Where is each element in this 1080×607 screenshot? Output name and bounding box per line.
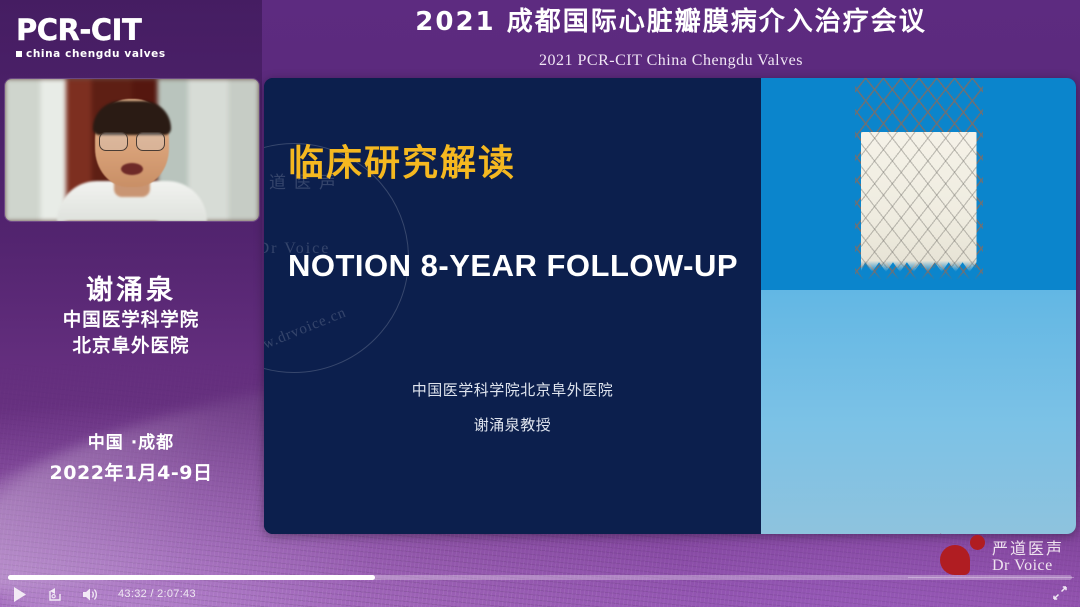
conference-title-english: 2021 PCR-CIT China Chengdu Valves [262, 52, 1080, 70]
pcr-cit-logo: PCR-CIT china chengdu valves [16, 16, 166, 60]
speaker-hair [93, 101, 171, 135]
slide-body-text: 中国医学科学院北京阜外医院 谢涌泉教授 [264, 373, 761, 442]
slide-right-lower-panel [761, 290, 1076, 534]
video-controls-bar: 43:32 / 2:07:43 [0, 573, 1080, 607]
play-icon [13, 587, 27, 602]
play-button[interactable] [10, 584, 30, 604]
event-location: 中国 ·成都 [0, 428, 262, 453]
speaker-affiliation: 中国医学科学院 北京阜外医院 [0, 308, 262, 361]
time-display: 43:32 / 2:07:43 [118, 588, 196, 600]
progress-bar-fill [8, 575, 375, 580]
stent-mesh-overlay [861, 132, 977, 268]
valve-stent-image [761, 78, 1076, 290]
slide-body-line-2: 谢涌泉教授 [264, 408, 761, 443]
affiliation-line-1: 中国医学科学院 [0, 308, 262, 334]
fullscreen-button[interactable] [1052, 585, 1068, 601]
presentation-slide[interactable]: 严道医声 Dr Voice www.drvoice.cn 临床研究解读 NOTI… [264, 78, 1076, 534]
slide-title-english: NOTION 8-YEAR FOLLOW-UP [288, 248, 738, 284]
conference-header: PCR-CIT china chengdu valves 2021 成都国际心脏… [0, 0, 1080, 76]
speaker-name: 谢涌泉 [0, 268, 262, 307]
speaker-mouth [121, 163, 143, 175]
speaker-portrait [72, 103, 192, 221]
speaker-webcam-feed[interactable] [5, 79, 259, 221]
progress-bar-track[interactable] [8, 575, 1072, 580]
logo-tagline-text: china chengdu valves [26, 48, 166, 60]
slide-body-line-1: 中国医学科学院北京阜外医院 [264, 373, 761, 408]
conference-title-chinese: 2021 成都国际心脏瓣膜病介入治疗会议 [262, 6, 1080, 39]
volume-icon [82, 587, 98, 602]
video-player-screen: PCR-CIT china chengdu valves 2021 成都国际心脏… [0, 0, 1080, 607]
replay-button[interactable] [45, 584, 65, 604]
event-date: 2022年1月4-9日 [0, 458, 262, 485]
slide-title-chinese: 临床研究解读 [288, 134, 516, 186]
volume-button[interactable] [80, 584, 100, 604]
speech-bubble-icon [940, 545, 970, 575]
slide-panel-divider [757, 78, 761, 534]
speaker-glasses [99, 132, 165, 149]
logo-tagline: china chengdu valves [16, 48, 166, 60]
stent-graphic [855, 78, 983, 280]
affiliation-line-2: 北京阜外医院 [0, 334, 262, 360]
brand-name-chinese: 严道医声 [992, 535, 1064, 559]
speech-dot-icon [970, 535, 985, 550]
replay-icon [48, 587, 63, 602]
logo-square-icon [16, 51, 22, 57]
logo-wordmark: PCR-CIT [16, 16, 166, 45]
playback-controls: 43:32 / 2:07:43 [10, 584, 196, 604]
